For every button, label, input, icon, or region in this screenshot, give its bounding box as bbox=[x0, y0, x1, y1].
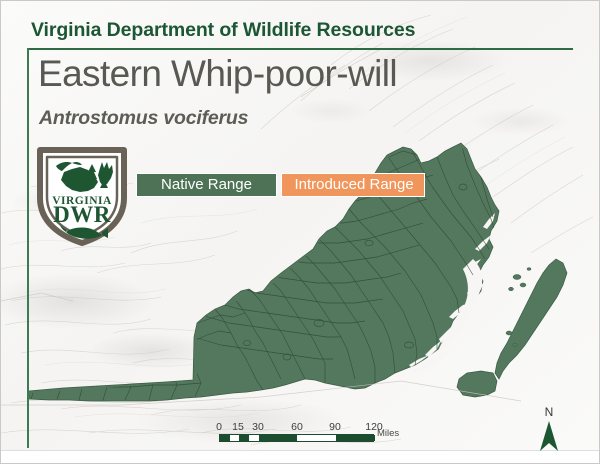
footer-strip bbox=[1, 450, 600, 463]
scale-tick-0: 0 bbox=[216, 421, 222, 433]
legend-native-range[interactable]: Native Range bbox=[136, 173, 277, 197]
header-divider-rule bbox=[27, 48, 573, 50]
logo-acronym: DWR bbox=[53, 202, 111, 227]
scale-tick-30: 30 bbox=[252, 421, 264, 433]
north-label: N bbox=[535, 406, 563, 418]
dwr-logo: VIRGINIA DWR bbox=[34, 142, 130, 247]
scale-bar-graphic bbox=[219, 434, 374, 442]
legend-introduced-range[interactable]: Introduced Range bbox=[281, 173, 425, 197]
scale-tick-60: 60 bbox=[291, 421, 303, 433]
map-legend: Native Range Introduced Range bbox=[136, 158, 425, 197]
scale-tick-15: 15 bbox=[232, 421, 244, 433]
species-scientific-name: Antrostomus vociferus bbox=[39, 107, 248, 130]
eastern-shore-polygon bbox=[495, 259, 567, 379]
left-border-rule bbox=[27, 48, 29, 448]
agency-title: Virginia Department of Wildlife Resource… bbox=[31, 19, 415, 42]
scale-bar-units: Miles bbox=[377, 428, 399, 439]
north-arrow-icon bbox=[537, 419, 561, 453]
north-arrow: N bbox=[535, 406, 563, 456]
map-poster: Virginia Department of Wildlife Resource… bbox=[0, 0, 600, 464]
species-common-name: Eastern Whip-poor-will bbox=[38, 53, 397, 95]
scale-tick-90: 90 bbox=[329, 421, 341, 433]
scale-bar: 0 15 30 60 90 120 Miles bbox=[219, 421, 394, 442]
scale-bar-labels: 0 15 30 60 90 120 bbox=[219, 421, 394, 434]
